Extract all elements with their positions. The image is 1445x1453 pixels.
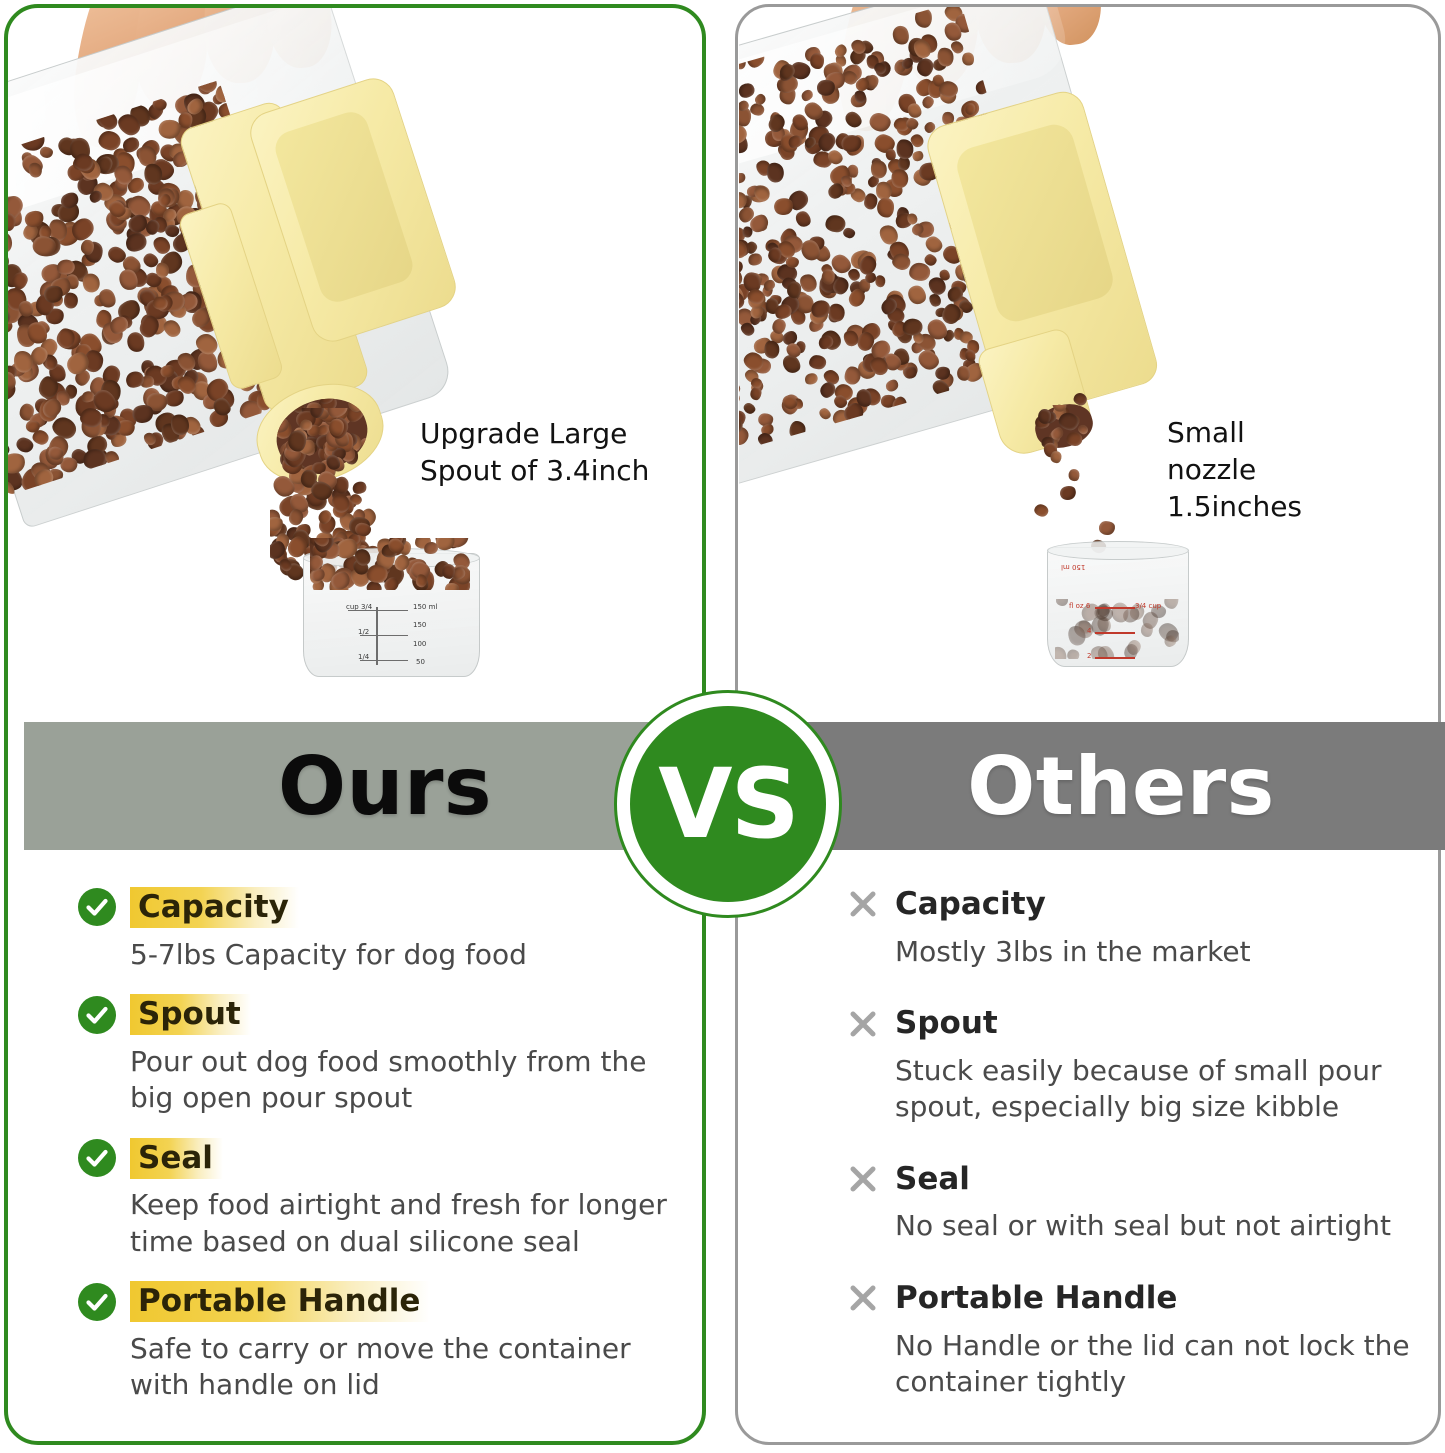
band-ours: Ours (24, 722, 706, 850)
feature-item: Portable Handle Safe to carry or move th… (78, 1282, 678, 1404)
feature-title: Spout (895, 1004, 998, 1043)
feature-header: Capacity (78, 888, 678, 927)
feature-title: Capacity (130, 887, 299, 928)
feature-title-wrap: Seal (130, 1139, 223, 1178)
feature-item: Spout Stuck easily because of small pour… (845, 1004, 1425, 1126)
others-title: Others (967, 740, 1275, 833)
x-icon (845, 1006, 881, 1042)
feature-title: Capacity (895, 885, 1046, 924)
feature-list-others: Capacity Mostly 3lbs in the market Spout… (845, 885, 1425, 1434)
feature-header: Seal (78, 1139, 678, 1178)
check-icon (78, 996, 116, 1034)
annotation-ours-line2: Spout of 3.4inch (420, 453, 649, 490)
check-icon (78, 1283, 116, 1321)
annotation-ours-line1: Upgrade Large (420, 416, 649, 453)
check-icon (78, 888, 116, 926)
feature-description: Safe to carry or move the container with… (130, 1331, 678, 1404)
x-icon (845, 1161, 881, 1197)
vs-badge-inner: VS (630, 706, 826, 902)
vs-label: VS (658, 756, 797, 852)
product-photo-others: 150 ml fl oz 6 4 2 3/4 cup Small nozzle … (739, 7, 1437, 707)
annotation-ours: Upgrade Large Spout of 3.4inch (420, 416, 649, 490)
feature-header: Portable Handle (845, 1279, 1425, 1318)
feature-title: Spout (130, 994, 251, 1035)
ours-title: Ours (278, 740, 492, 833)
feature-item: Capacity 5-7lbs Capacity for dog food (78, 888, 678, 973)
feature-title-wrap: Portable Handle (130, 1282, 430, 1321)
feature-header: Spout (845, 1004, 1425, 1043)
feature-description: No seal or with seal but not airtight (895, 1208, 1425, 1244)
feature-list-ours: Capacity 5-7lbs Capacity for dog food Sp… (78, 888, 678, 1426)
band-others: Others (737, 722, 1445, 850)
feature-description: Keep food airtight and fresh for longer … (130, 1187, 678, 1260)
annotation-others: Small nozzle 1.5inches (1167, 415, 1302, 526)
product-photo-ours: cup 3/4 1/2 1/4 150 ml 150 100 50 Upgrad… (8, 8, 702, 708)
feature-item: Seal No seal or with seal but not airtig… (845, 1160, 1425, 1245)
annotation-others-line1: Small nozzle (1167, 415, 1302, 489)
cup-kibble-ours (310, 538, 470, 590)
feature-item: Capacity Mostly 3lbs in the market (845, 885, 1425, 970)
feature-item: Seal Keep food airtight and fresh for lo… (78, 1139, 678, 1261)
comparison-infographic: cup 3/4 1/2 1/4 150 ml 150 100 50 Upgrad… (0, 0, 1445, 1453)
x-icon (845, 1280, 881, 1316)
feature-description: Mostly 3lbs in the market (895, 934, 1425, 970)
annotation-others-line2: 1.5inches (1167, 489, 1302, 526)
feature-description: Stuck easily because of small pour spout… (895, 1053, 1425, 1126)
vs-badge: VS (614, 690, 842, 918)
feature-title-wrap: Spout (130, 995, 251, 1034)
feature-item: Portable Handle No Handle or the lid can… (845, 1279, 1425, 1401)
feature-title-wrap: Capacity (130, 888, 299, 927)
feature-header: Capacity (845, 885, 1425, 924)
feature-description: No Handle or the lid can not lock the co… (895, 1328, 1425, 1401)
x-icon (845, 886, 881, 922)
feature-title: Portable Handle (130, 1281, 430, 1322)
feature-description: 5-7lbs Capacity for dog food (130, 937, 678, 973)
feature-header: Seal (845, 1160, 1425, 1199)
feature-title: Seal (895, 1160, 970, 1199)
feature-header: Spout (78, 995, 678, 1034)
feature-header: Portable Handle (78, 1282, 678, 1321)
feature-item: Spout Pour out dog food smoothly from th… (78, 995, 678, 1117)
feature-title: Portable Handle (895, 1279, 1177, 1318)
feature-title: Seal (130, 1138, 223, 1179)
feature-description: Pour out dog food smoothly from the big … (130, 1044, 678, 1117)
check-icon (78, 1139, 116, 1177)
